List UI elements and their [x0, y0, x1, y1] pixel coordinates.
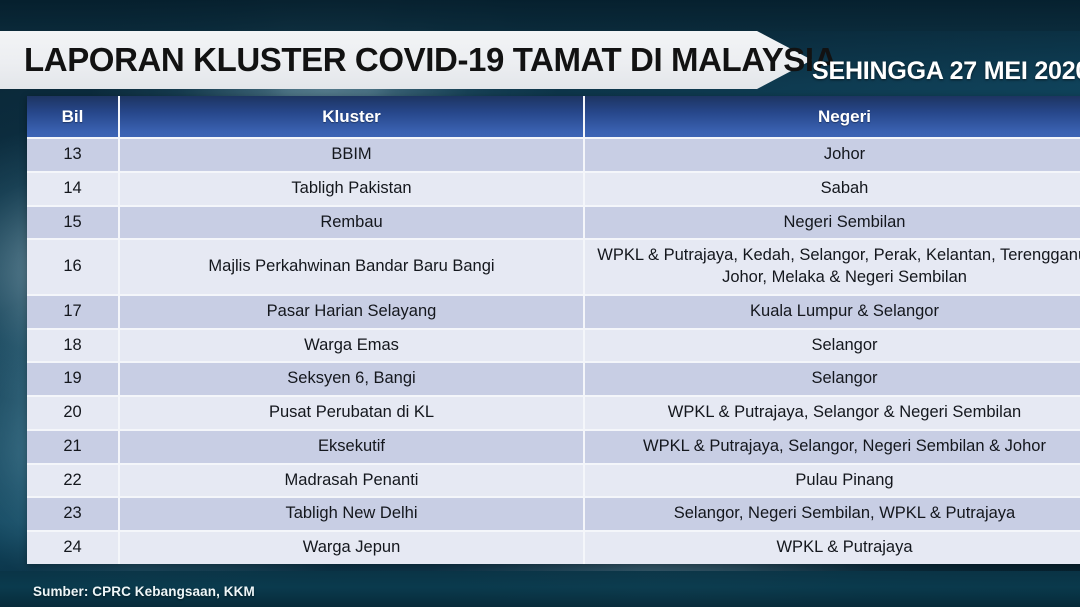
cell-bil: 19 [27, 363, 120, 397]
cell-bil: 20 [27, 397, 120, 431]
cell-bil: 16 [27, 240, 120, 296]
source-label: Sumber: CPRC Kebangsaan, KKM [33, 584, 255, 599]
table-row: 22Madrasah PenantiPulau Pinang [27, 465, 1080, 499]
cell-kluster: Seksyen 6, Bangi [120, 363, 585, 397]
table-row: 18Warga EmasSelangor [27, 330, 1080, 364]
slide-canvas: LAPORAN KLUSTER COVID-19 TAMAT DI MALAYS… [0, 0, 1080, 607]
column-header-negeri: Negeri [585, 96, 1080, 139]
cell-bil: 21 [27, 431, 120, 465]
cell-bil: 13 [27, 139, 120, 173]
cell-negeri: Selangor, Negeri Sembilan, WPKL & Putraj… [585, 498, 1080, 532]
top-strip [0, 0, 1080, 31]
cell-negeri: WPKL & Putrajaya, Selangor, Negeri Sembi… [585, 431, 1080, 465]
table-row: 21EksekutifWPKL & Putrajaya, Selangor, N… [27, 431, 1080, 465]
cluster-table: Bil Kluster Negeri 13BBIMJohor14Tabligh … [27, 96, 1080, 564]
column-header-bil: Bil [27, 96, 120, 139]
table-row: 13BBIMJohor [27, 139, 1080, 173]
table-row: 15RembauNegeri Sembilan [27, 207, 1080, 241]
cell-kluster: Pusat Perubatan di KL [120, 397, 585, 431]
cell-negeri: WPKL & Putrajaya, Selangor & Negeri Semb… [585, 397, 1080, 431]
cell-kluster: Tabligh Pakistan [120, 173, 585, 207]
table-body: 13BBIMJohor14Tabligh PakistanSabah15Remb… [27, 139, 1080, 564]
cell-bil: 17 [27, 296, 120, 330]
cell-kluster: Pasar Harian Selayang [120, 296, 585, 330]
cell-kluster: BBIM [120, 139, 585, 173]
cell-kluster: Eksekutif [120, 431, 585, 465]
cell-kluster: Tabligh New Delhi [120, 498, 585, 532]
table-header: Bil Kluster Negeri [27, 96, 1080, 139]
cell-kluster: Warga Jepun [120, 532, 585, 564]
cell-bil: 15 [27, 207, 120, 241]
cell-bil: 23 [27, 498, 120, 532]
cell-negeri: Selangor [585, 363, 1080, 397]
cell-negeri: Pulau Pinang [585, 465, 1080, 499]
cell-kluster: Madrasah Penanti [120, 465, 585, 499]
table-row: 19Seksyen 6, BangiSelangor [27, 363, 1080, 397]
cell-bil: 22 [27, 465, 120, 499]
cluster-table-container: Bil Kluster Negeri 13BBIMJohor14Tabligh … [27, 96, 1064, 564]
cell-bil: 24 [27, 532, 120, 564]
table-row: 17Pasar Harian SelayangKuala Lumpur & Se… [27, 296, 1080, 330]
cell-kluster: Majlis Perkahwinan Bandar Baru Bangi [120, 240, 585, 296]
table-row: 16Majlis Perkahwinan Bandar Baru BangiWP… [27, 240, 1080, 296]
cell-kluster: Rembau [120, 207, 585, 241]
table-row: 23Tabligh New DelhiSelangor, Negeri Semb… [27, 498, 1080, 532]
cell-negeri: Negeri Sembilan [585, 207, 1080, 241]
column-header-kluster: Kluster [120, 96, 585, 139]
cell-negeri: Kuala Lumpur & Selangor [585, 296, 1080, 330]
date-label: SEHINGGA 27 MEI 2020 [812, 55, 1080, 87]
cell-negeri: WPKL & Putrajaya, Kedah, Selangor, Perak… [585, 240, 1080, 296]
cell-negeri: Selangor [585, 330, 1080, 364]
table-header-row: Bil Kluster Negeri [27, 96, 1080, 139]
cell-negeri: WPKL & Putrajaya [585, 532, 1080, 564]
table-row: 14Tabligh PakistanSabah [27, 173, 1080, 207]
cell-negeri: Johor [585, 139, 1080, 173]
page-title: LAPORAN KLUSTER COVID-19 TAMAT DI MALAYS… [24, 36, 764, 84]
cell-bil: 18 [27, 330, 120, 364]
cell-bil: 14 [27, 173, 120, 207]
table-row: 24Warga JepunWPKL & Putrajaya [27, 532, 1080, 564]
table-row: 20Pusat Perubatan di KLWPKL & Putrajaya,… [27, 397, 1080, 431]
cell-negeri: Sabah [585, 173, 1080, 207]
cell-kluster: Warga Emas [120, 330, 585, 364]
